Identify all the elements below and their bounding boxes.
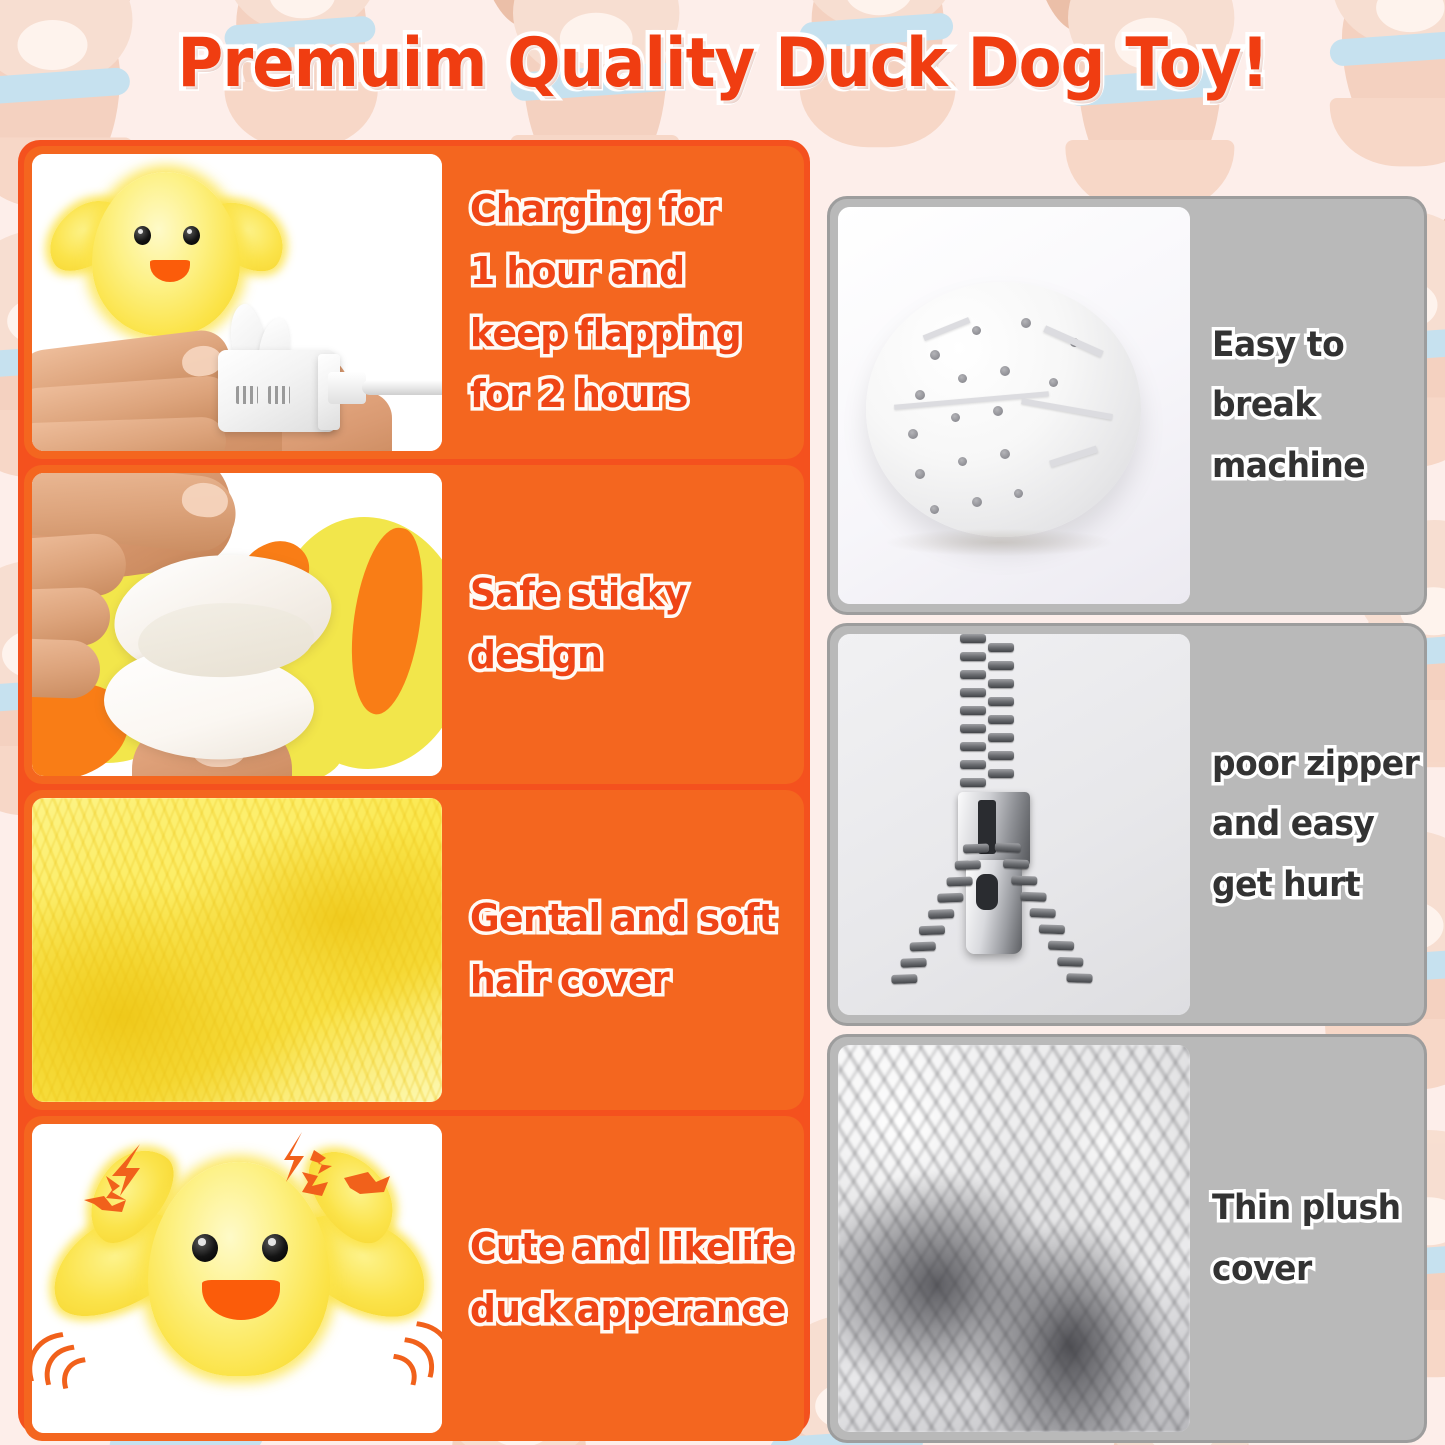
pro-line: for 2 hours	[470, 364, 776, 426]
pro-line: Cute and likelife	[470, 1217, 792, 1279]
con-text-thin: Thin plush cover	[1190, 1037, 1424, 1440]
con-text-break: Easy to break machine	[1190, 199, 1424, 612]
pro-line: design	[470, 625, 776, 687]
con-image-zipper	[838, 634, 1190, 1015]
con-line: break	[1212, 375, 1406, 435]
pro-line: hair cover	[470, 950, 776, 1012]
pro-image-sticky	[32, 473, 442, 776]
con-line: cover	[1212, 1239, 1406, 1299]
pro-image-charging	[32, 154, 442, 451]
pro-line: Gental and soft	[470, 888, 776, 950]
con-row-thin: Thin plush cover	[827, 1034, 1427, 1443]
pro-line: Safe sticky	[470, 563, 776, 625]
cons-column: Easy to break machine	[827, 196, 1427, 1435]
pro-image-hair	[32, 798, 442, 1102]
pro-row-hair: Gental and soft hair cover	[24, 790, 804, 1110]
con-row-zipper: poor zipper and easy get hurt	[827, 623, 1427, 1026]
infographic-page: Premuim Quality Duck Dog Toy!	[0, 0, 1445, 1445]
page-title: Premuim Quality Duck Dog Toy!	[0, 24, 1445, 103]
pro-line: 1 hour and	[470, 241, 776, 303]
con-line: poor zipper	[1212, 734, 1419, 794]
pro-row-charging: Charging for 1 hour and keep flapping fo…	[24, 146, 804, 459]
con-line: and easy	[1212, 794, 1419, 854]
con-line: Thin plush	[1212, 1178, 1406, 1238]
con-image-thin	[838, 1045, 1190, 1432]
con-line: get hurt	[1212, 855, 1419, 915]
con-row-break: Easy to break machine	[827, 196, 1427, 615]
con-line: Easy to	[1212, 315, 1406, 375]
pro-row-sticky: Safe sticky design	[24, 465, 804, 784]
pros-column: Charging for 1 hour and keep flapping fo…	[18, 140, 810, 1435]
pro-image-appearance	[32, 1124, 442, 1433]
pro-text-hair: Gental and soft hair cover	[442, 790, 804, 1110]
con-text-zipper: poor zipper and easy get hurt	[1190, 626, 1427, 1023]
pro-text-appearance: Cute and likelife duck apperance	[442, 1116, 804, 1441]
pro-line: Charging for	[470, 179, 776, 241]
con-line: machine	[1212, 436, 1406, 496]
pro-text-charging: Charging for 1 hour and keep flapping fo…	[442, 146, 804, 459]
pro-line: duck apperance	[470, 1279, 792, 1341]
motion-bolt-icon	[284, 1130, 394, 1220]
page-title-text: Premuim Quality Duck Dog Toy!	[177, 24, 1268, 103]
pro-row-appearance: Cute and likelife duck apperance	[24, 1116, 804, 1441]
motion-bolt-icon	[82, 1142, 172, 1222]
con-image-break	[838, 207, 1190, 604]
pro-text-sticky: Safe sticky design	[442, 465, 804, 784]
pro-line: keep flapping	[470, 303, 776, 365]
